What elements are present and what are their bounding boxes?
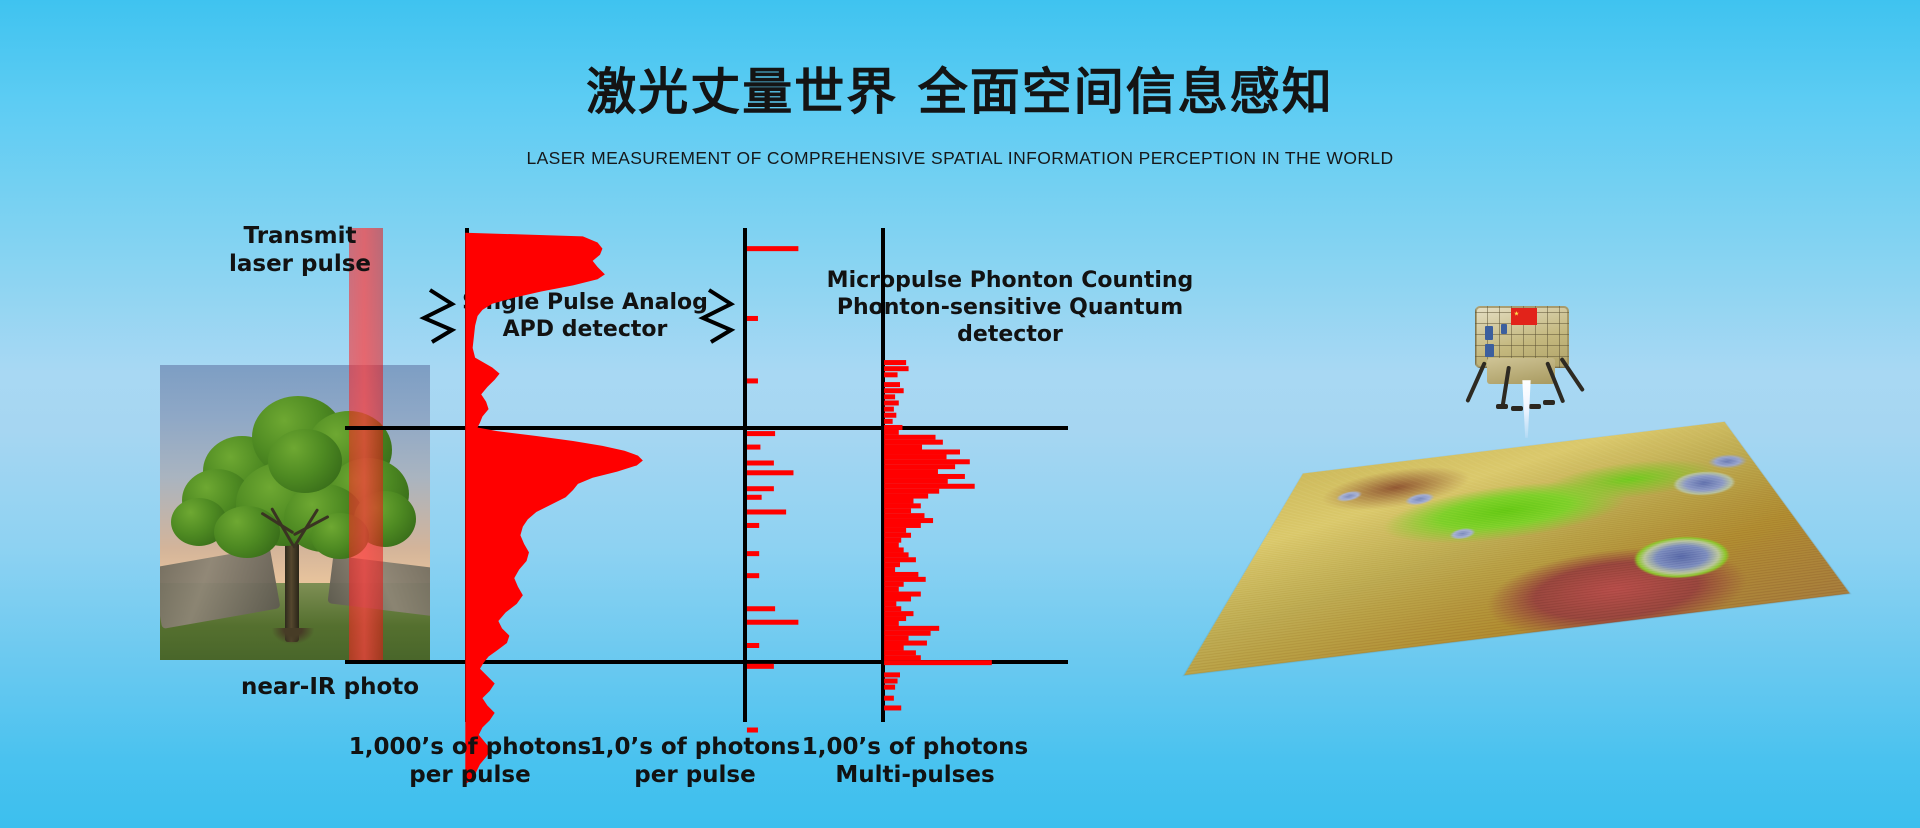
photon-count-bar: [884, 567, 895, 572]
photon-count-bar: [884, 552, 908, 557]
poster-canvas: 激光丈量世界 全面空间信息感知 LASER MEASUREMENT OF COM…: [0, 0, 1920, 828]
lander-instrument-1: [1485, 326, 1493, 340]
tree-photo-icon: [160, 365, 430, 660]
photon-count-bar: [884, 621, 899, 626]
photon-count-bar: [747, 316, 758, 321]
dense-photon-bars: [884, 360, 992, 710]
photon-count-bar: [884, 577, 926, 582]
photon-count-bar: [884, 650, 916, 655]
photon-count-bar: [884, 636, 908, 641]
page-title: 激光丈量世界 全面空间信息感知: [0, 52, 1920, 124]
lander-foot-4: [1543, 400, 1555, 405]
photon-count-bar: [884, 469, 938, 474]
photon-count-bar: [884, 454, 946, 459]
photon-count-bar: [747, 606, 775, 611]
lunar-lander-icon: [1463, 300, 1583, 408]
laser-beam-icon: [349, 228, 383, 660]
terrain-surface: [1184, 422, 1850, 675]
photon-count-bar: [884, 587, 899, 592]
photon-count-bar: [884, 562, 900, 567]
photon-count-bar: [747, 495, 762, 500]
photon-count-bar: [884, 498, 913, 503]
photon-count-bar: [884, 407, 894, 412]
photon-count-bar: [884, 388, 904, 393]
photon-count-bar: [884, 655, 921, 660]
lander-foot-3: [1529, 404, 1541, 409]
photon-count-bar: [747, 431, 775, 436]
photon-count-bar: [884, 626, 939, 631]
lander-foot-1: [1496, 404, 1508, 409]
photon-count-bar: [884, 543, 899, 548]
photon-count-bar: [884, 484, 975, 489]
photon-count-bar: [884, 430, 899, 435]
photon-count-bar: [884, 479, 948, 484]
lander-leg-1: [1465, 361, 1487, 403]
photon-count-bar: [884, 631, 931, 636]
lander-foot-2: [1511, 406, 1523, 411]
lander-instrument-3: [1501, 324, 1507, 334]
photon-count-bar: [747, 378, 758, 383]
photon-count-bar: [747, 728, 758, 733]
photon-count-bar: [884, 445, 922, 450]
photon-count-bar: [884, 592, 921, 597]
photon-count-bar: [884, 596, 911, 601]
near-ir-photo-label: near-IR photo: [220, 673, 440, 701]
photon-count-bar: [884, 394, 895, 399]
photon-count-bar: [747, 551, 759, 556]
micropulse-photon-counting-label: Micropulse Phonton Counting Phonton-sens…: [800, 268, 1220, 348]
photon-count-bar: [884, 557, 916, 562]
lidar-terrain-icon: [1215, 300, 1855, 730]
photon-count-bar: [884, 660, 992, 665]
photon-count-bar: [884, 360, 906, 365]
photon-count-bar: [884, 696, 894, 701]
photon-count-bar: [884, 372, 897, 377]
photon-count-bar: [884, 611, 913, 616]
photon-count-bar: [884, 366, 908, 371]
photon-count-bar: [884, 528, 906, 533]
photon-count-bar: [884, 449, 960, 454]
photon-count-bar: [747, 523, 759, 528]
lander-instrument-2: [1485, 344, 1494, 357]
photon-count-bar: [884, 508, 911, 513]
photon-count-bar: [884, 523, 921, 528]
photon-count-bar: [884, 547, 904, 552]
transmit-laser-pulse-label: Transmit laser pulse: [200, 222, 400, 278]
photon-count-bar: [884, 645, 904, 650]
sparse-photon-bars: [747, 246, 798, 732]
photon-count-bar: [884, 641, 927, 646]
photon-count-bar: [884, 601, 896, 606]
photon-count-bar: [747, 620, 798, 625]
photon-count-bar: [884, 474, 965, 479]
photon-count-bar: [884, 679, 897, 684]
photon-count-bar: [884, 382, 900, 387]
photon-count-bar: [884, 459, 970, 464]
photon-count-bar: [747, 486, 774, 491]
photon-count-bar: [884, 572, 918, 577]
photon-count-bar: [884, 672, 900, 677]
page-subtitle: LASER MEASUREMENT OF COMPREHENSIVE SPATI…: [0, 148, 1920, 169]
photon-count-bar: [747, 246, 798, 251]
photon-count-bar: [884, 606, 901, 611]
photon-count-bar: [884, 464, 955, 469]
photon-count-bar: [747, 460, 774, 465]
photon-count-bar: [884, 440, 943, 445]
photon-count-bar: [747, 509, 786, 514]
tree-canopy: [160, 389, 430, 572]
photon-count-bar: [884, 419, 893, 424]
photon-count-bar: [884, 413, 896, 418]
photon-count-bar: [884, 538, 901, 543]
photon-count-bar: [747, 664, 774, 669]
caption-dense: 1,00’s of photons Multi-pulses: [780, 733, 1050, 789]
photon-count-bar: [884, 489, 939, 494]
photon-count-bar: [884, 582, 904, 587]
photon-count-bar: [884, 533, 911, 538]
photon-count-bar: [884, 400, 899, 405]
photon-count-bar: [884, 518, 933, 523]
photon-count-bar: [747, 445, 760, 450]
photon-count-bar: [884, 425, 902, 430]
photon-count-bar: [884, 685, 895, 690]
single-pulse-analog-label: Single Pulse Analog APD detector: [440, 290, 730, 344]
photon-count-bar: [747, 643, 759, 648]
photon-count-bar: [884, 513, 924, 518]
photon-count-bar: [884, 494, 928, 499]
photon-count-bar: [747, 470, 794, 475]
photon-count-bar: [884, 616, 906, 621]
photon-count-bar: [884, 503, 921, 508]
photon-count-bar: [884, 705, 901, 710]
photon-count-bar: [884, 435, 935, 440]
photon-count-bar: [747, 573, 759, 578]
china-flag-icon: [1511, 308, 1537, 325]
lander-leg-4: [1559, 357, 1585, 392]
terrain-texture: [1184, 422, 1850, 675]
